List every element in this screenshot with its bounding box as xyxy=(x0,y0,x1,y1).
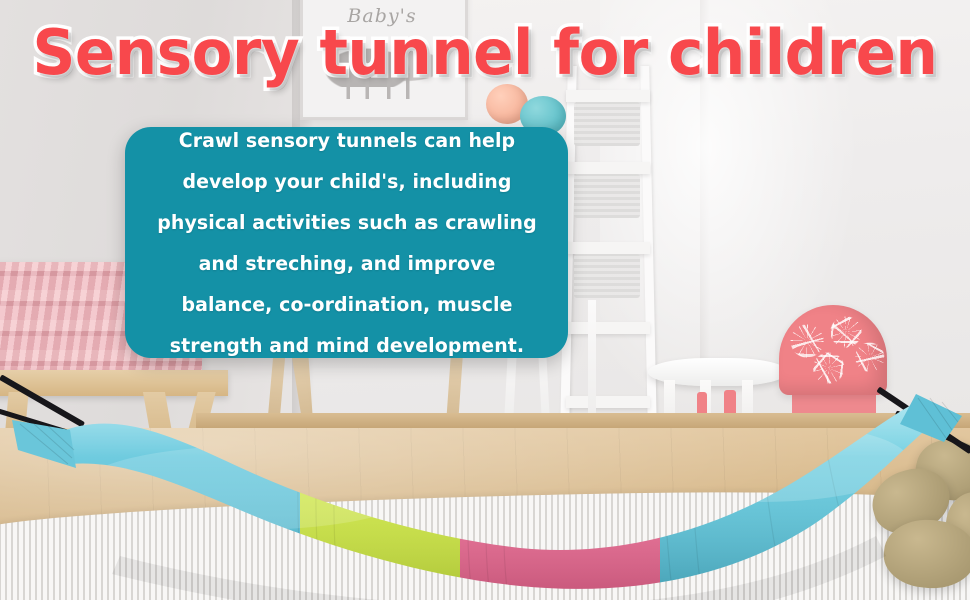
page-title: Sensory tunnel for children xyxy=(19,22,950,84)
ladder-basket-2 xyxy=(574,174,640,218)
sensory-tunnel xyxy=(0,380,970,600)
description-callout-card: Crawl sensory tunnels can help develop y… xyxy=(125,127,568,358)
ladder-shelf-4 xyxy=(566,322,650,334)
product-banner: Baby's xyxy=(0,0,970,600)
tunnel-fabric-svg xyxy=(0,380,970,600)
ladder-shelf-2 xyxy=(566,162,650,174)
description-callout-text: Crawl sensory tunnels can help develop y… xyxy=(151,120,543,366)
ladder-shelf-1 xyxy=(566,90,650,102)
ladder-shelf-3 xyxy=(566,242,650,254)
ladder-basket-1 xyxy=(574,102,640,146)
ladder-basket-3 xyxy=(574,254,640,298)
tunnel-left-tip xyxy=(12,420,76,468)
